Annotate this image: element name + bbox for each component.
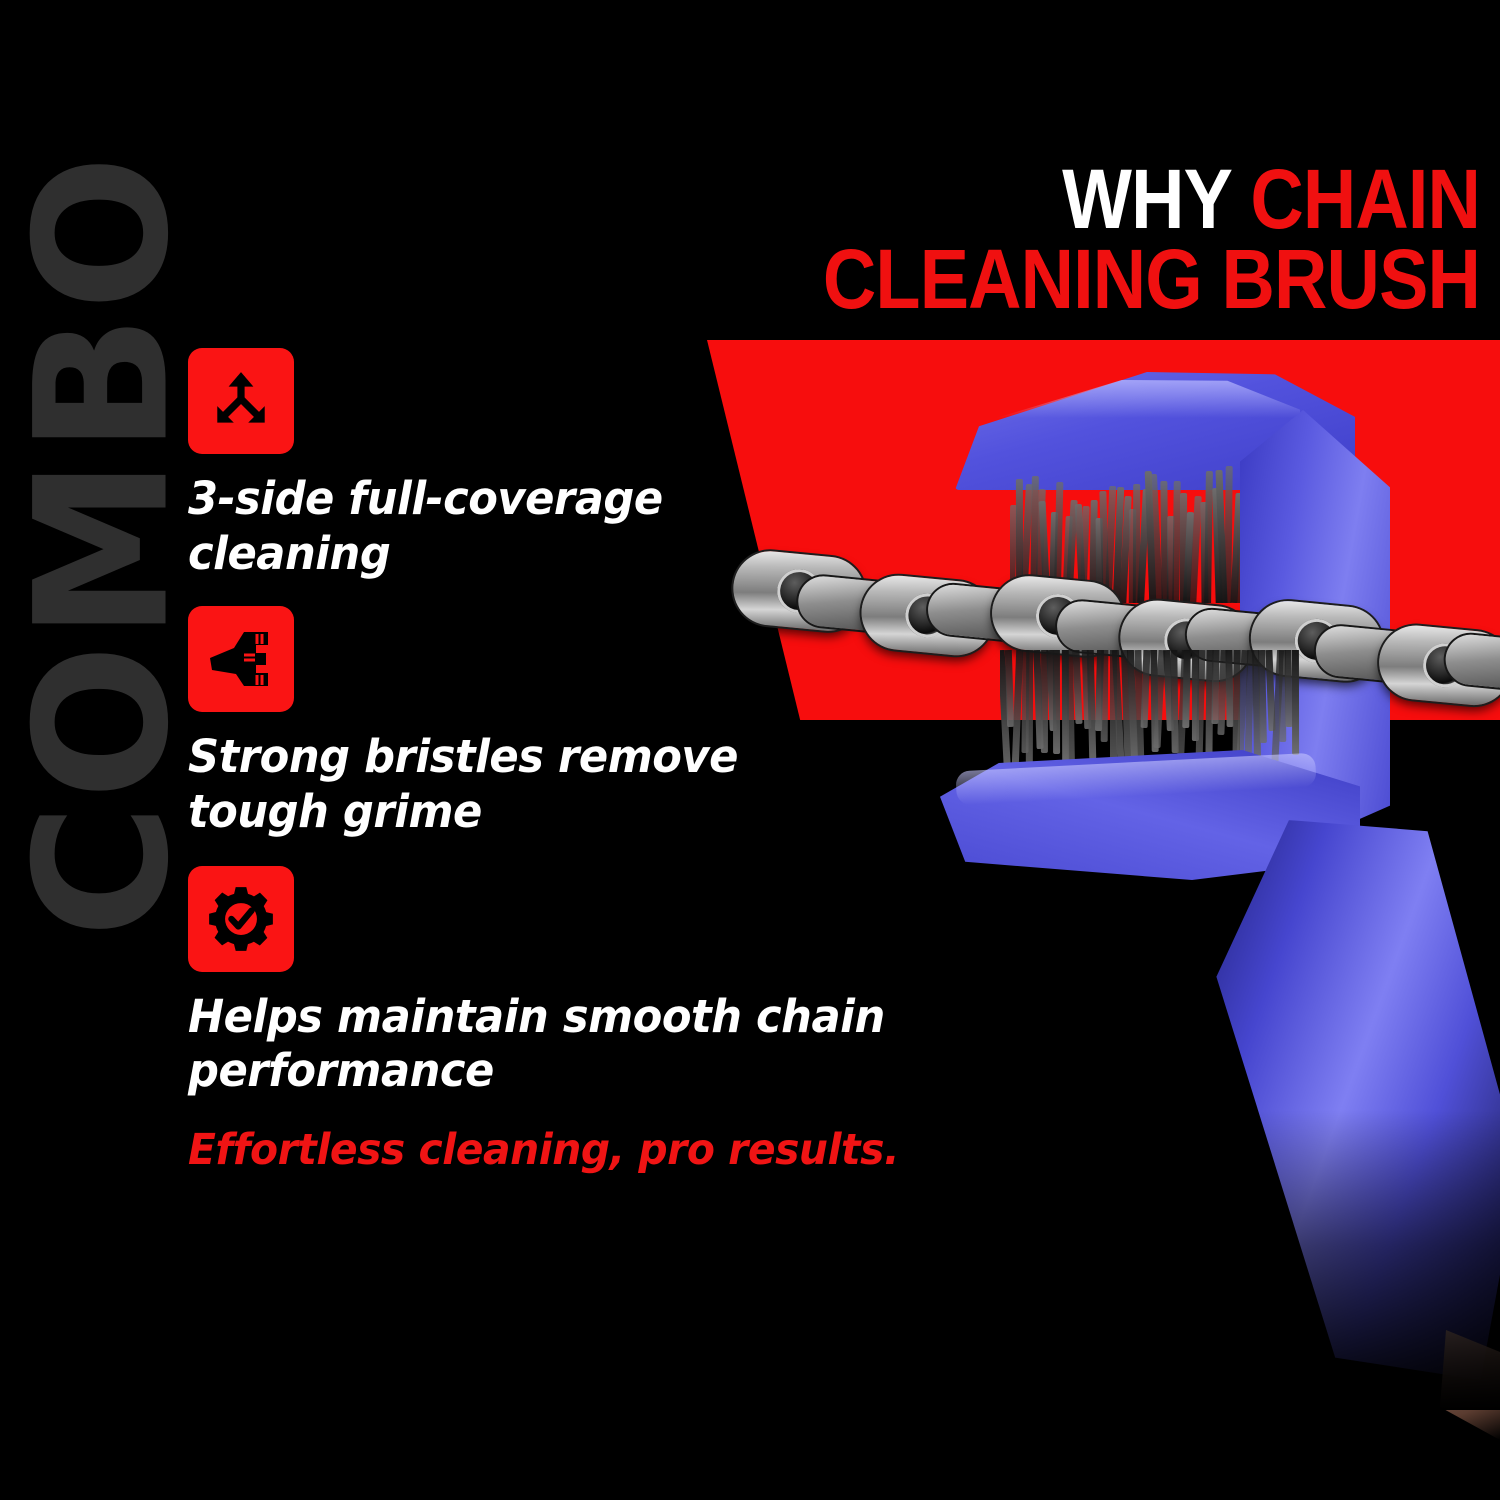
feature-item-coverage: 3-side full-coverage cleaning [188,348,948,582]
headline-line-1: WHY CHAIN [776,160,1480,240]
feature-label: Helps maintain smooth chain performance [188,990,918,1100]
three-way-arrows-icon [188,348,294,454]
brush-handle-shadow [1190,1110,1500,1410]
tagline: Effortless cleaning, pro results. [188,1125,910,1175]
poster-canvas: COMBO WHY CHAIN CLEANING BRUSH [0,0,1500,1500]
page-title: WHY CHAIN CLEANING BRUSH [680,160,1480,320]
headline-line-2: CLEANING BRUSH [776,240,1480,320]
combo-watermark-text: COMBO [12,151,195,938]
feature-label: Strong bristles remove tough grime [188,730,860,840]
combo-watermark: COMBO [11,70,196,1020]
brush-lower-jaw [940,750,1360,880]
feature-item-performance: Helps maintain smooth chain performance [188,866,948,1100]
brush-handle [1190,820,1500,1380]
gear-check-icon [188,866,294,972]
feature-list: 3-side full-coverage cleaning Strong bri [188,348,948,1175]
brush-handle-tip [1440,1330,1500,1440]
chain-brush-icon [188,606,294,712]
brush-lower-jaw-highlight [955,753,1316,806]
feature-item-bristles: Strong bristles remove tough grime [188,606,948,840]
feature-label: 3-side full-coverage cleaning [188,472,860,582]
